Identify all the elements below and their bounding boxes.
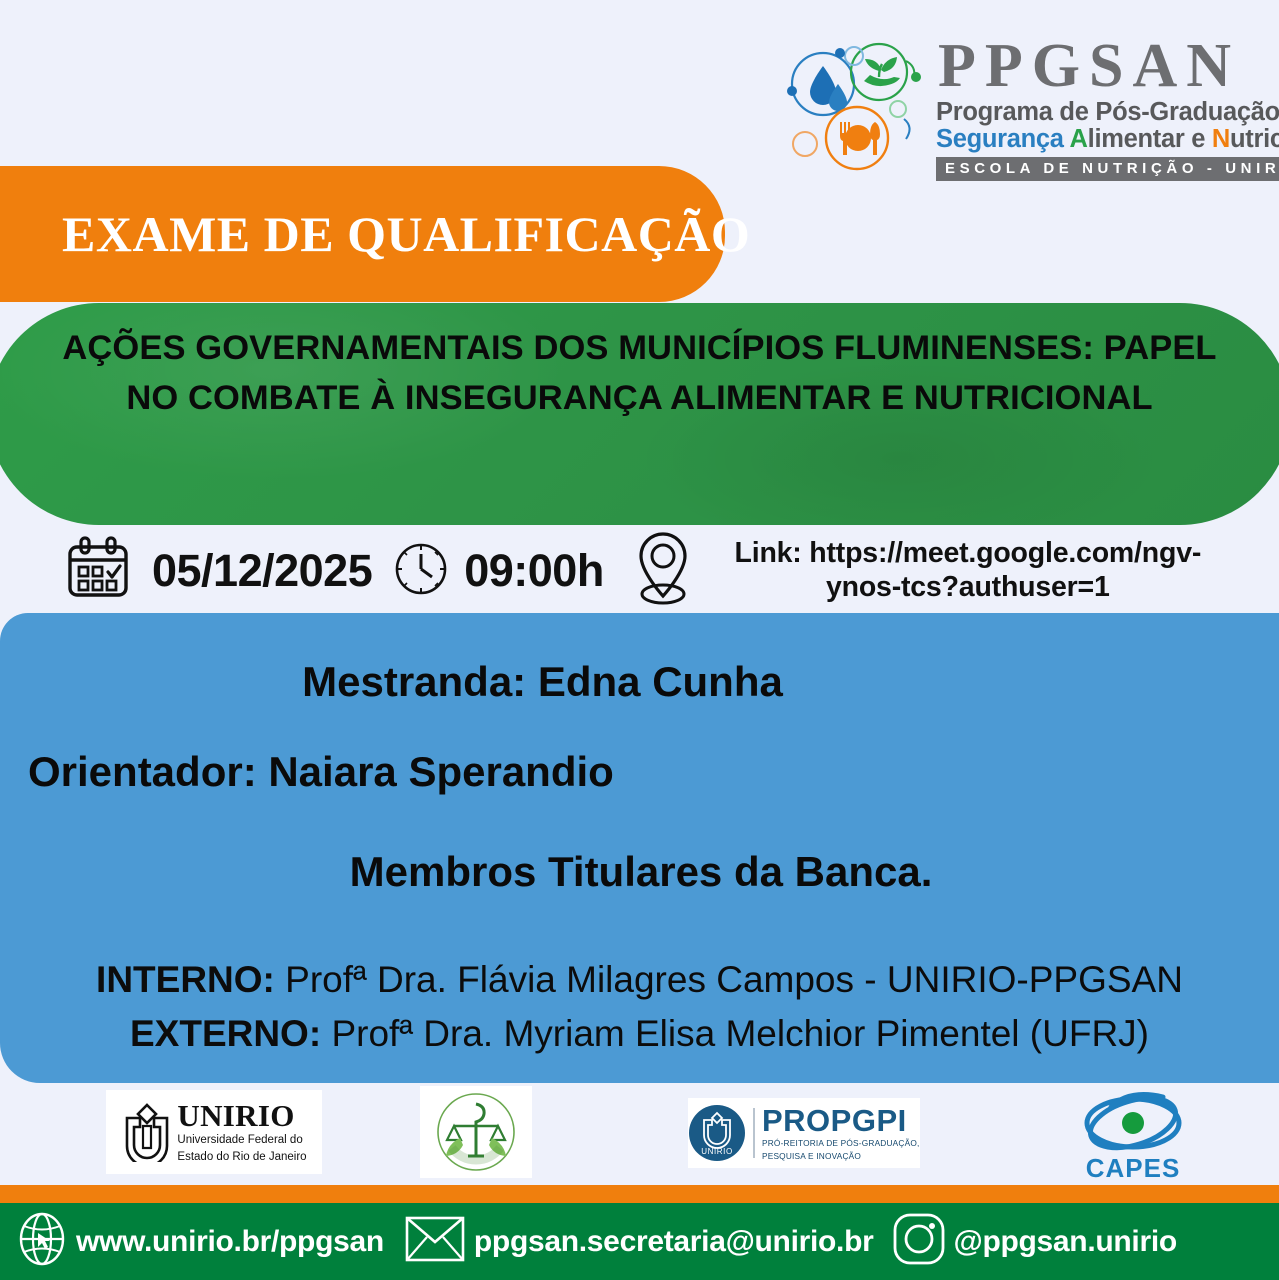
unirio-emblem-icon bbox=[121, 1102, 173, 1162]
escola-nutricao-seal-icon bbox=[430, 1086, 522, 1178]
leaf-left-icon bbox=[865, 59, 880, 71]
utricional-word: utricional bbox=[1230, 125, 1279, 153]
deco-circle-2-icon bbox=[793, 132, 817, 156]
instagram-handle[interactable]: @ppgsan.unirio bbox=[954, 1225, 1177, 1259]
map-pin-icon bbox=[630, 528, 696, 615]
ppgsan-subtitle-line2: Segurança Alimentar e Nutricional bbox=[936, 126, 1279, 154]
limentar-word: limentar e bbox=[1088, 125, 1212, 153]
unirio-sub2: Estado do Rio de Janeiro bbox=[177, 1150, 306, 1164]
propgpi-emblem-icon: UNIRIO bbox=[688, 1104, 746, 1162]
committee-member-row: INTERNO: Profª Dra. Flávia Milagres Camp… bbox=[0, 953, 1279, 1007]
committee-members: INTERNO: Profª Dra. Flávia Milagres Camp… bbox=[0, 953, 1279, 1062]
unirio-logo: UNIRIO Universidade Federal do Estado do… bbox=[106, 1090, 322, 1174]
escola-nutricao-logo bbox=[420, 1086, 532, 1178]
ppgsan-logo-mark bbox=[778, 39, 928, 179]
contact-footer: www.unirio.br/ppgsan ppgsan.secretaria@u… bbox=[0, 1203, 1279, 1280]
propgpi-badge-label: UNIRIO bbox=[702, 1147, 734, 1156]
ppgsan-school-bar: ESCOLA DE NUTRIÇÃO - UNIRIO bbox=[936, 157, 1279, 181]
propgpi-sub2: PESQUISA E INOVAÇÃO bbox=[762, 1151, 920, 1162]
student-name: Mestranda: Edna Cunha bbox=[0, 658, 1085, 706]
knife-icon bbox=[870, 122, 880, 155]
seg-word: Segurança bbox=[936, 125, 1070, 153]
capes-name: CAPES bbox=[1086, 1153, 1181, 1184]
poster-root: PPGSAN Programa de Pós-Graduação em Segu… bbox=[0, 0, 1279, 1280]
footer-accent-strip bbox=[0, 1185, 1279, 1203]
event-date: 05/12/2025 bbox=[152, 545, 372, 597]
fork-icon bbox=[840, 122, 850, 155]
deco-dot-icon bbox=[835, 48, 845, 58]
hand-glyph bbox=[864, 75, 900, 86]
thesis-title: AÇÕES GOVERNAMENTAIS DOS MUNICÍPIOS FLUM… bbox=[25, 323, 1255, 423]
committee-member-row: EXTERNO: Profª Dra. Myriam Elisa Melchio… bbox=[0, 1007, 1279, 1061]
capes-logo: CAPES bbox=[1063, 1088, 1203, 1184]
dot-blue-icon bbox=[787, 86, 797, 96]
propgpi-logo-inner: UNIRIO PROPGPI PRÓ-REITORIA DE PÓS-GRADU… bbox=[688, 1104, 919, 1162]
instagram-icon bbox=[892, 1212, 946, 1271]
unirio-logo-inner: UNIRIO Universidade Federal do Estado do… bbox=[121, 1100, 306, 1163]
ppgsan-subtitle-line1: Programa de Pós-Graduação em bbox=[936, 99, 1279, 127]
deco-dot-2-icon bbox=[911, 72, 921, 82]
ppgsan-acronym: PPGSAN bbox=[938, 37, 1240, 97]
globe-icon bbox=[16, 1211, 68, 1272]
n-letter: N bbox=[1212, 125, 1230, 153]
committee-heading: Membros Titulares da Banca. bbox=[0, 848, 1279, 896]
event-date-group: 05/12/2025 bbox=[62, 534, 372, 609]
a-letter: A bbox=[1070, 125, 1088, 153]
website-group[interactable]: www.unirio.br/ppgsan bbox=[16, 1211, 384, 1272]
propgpi-name: PROPGPI bbox=[762, 1105, 920, 1136]
member-name: Profª Dra. Myriam Elisa Melchior Pimente… bbox=[321, 1013, 1149, 1054]
deco-arc-2-icon bbox=[904, 119, 910, 139]
email-group[interactable]: ppgsan.secretaria@unirio.br bbox=[404, 1214, 874, 1269]
instagram-group[interactable]: @ppgsan.unirio bbox=[892, 1212, 1177, 1271]
member-role: EXTERNO: bbox=[130, 1013, 321, 1054]
propgpi-logo: UNIRIO PROPGPI PRÓ-REITORIA DE PÓS-GRADU… bbox=[688, 1098, 920, 1168]
capes-logo-inner: CAPES bbox=[1067, 1089, 1199, 1184]
member-name: Profª Dra. Flávia Milagres Campos - UNIR… bbox=[275, 959, 1183, 1000]
exam-type-label: EXAME DE QUALIFICAÇÃO bbox=[62, 205, 750, 263]
deco-circle-3-icon bbox=[890, 101, 906, 117]
unirio-logo-text: UNIRIO Universidade Federal do Estado do… bbox=[177, 1100, 306, 1163]
event-info-row: 05/12/2025 09:00h bbox=[0, 525, 1279, 617]
ppgsan-mark-svg bbox=[778, 39, 928, 179]
meeting-link[interactable]: Link: https://meet.google.com/ngv-ynos-t… bbox=[708, 537, 1228, 604]
propgpi-divider bbox=[753, 1108, 755, 1158]
thesis-title-line1: AÇÕES GOVERNAMENTAIS DOS MUNICÍPIOS FLUM… bbox=[25, 323, 1255, 373]
thesis-title-blob: AÇÕES GOVERNAMENTAIS DOS MUNICÍPIOS FLUM… bbox=[0, 303, 1279, 525]
clock-icon bbox=[390, 538, 452, 605]
people-panel: Mestranda: Edna Cunha Orientador: Naiara… bbox=[0, 613, 1279, 1083]
envelope-icon bbox=[404, 1214, 466, 1269]
unirio-sub1: Universidade Federal do bbox=[177, 1133, 306, 1147]
leaf-right-icon bbox=[881, 57, 897, 72]
capes-atom-icon bbox=[1067, 1089, 1199, 1155]
member-role: INTERNO: bbox=[96, 959, 275, 1000]
propgpi-logo-text: PROPGPI PRÓ-REITORIA DE PÓS-GRADUAÇÃO, P… bbox=[762, 1105, 920, 1162]
deco-circle-icon bbox=[845, 47, 863, 65]
unirio-name: UNIRIO bbox=[177, 1100, 306, 1131]
event-time: 09:00h bbox=[464, 545, 604, 597]
calendar-icon bbox=[62, 534, 134, 609]
ppgsan-logo-text: PPGSAN Programa de Pós-Graduação em Segu… bbox=[936, 37, 1279, 181]
email-address[interactable]: ppgsan.secretaria@unirio.br bbox=[474, 1225, 874, 1259]
exam-type-banner: EXAME DE QUALIFICAÇÃO bbox=[0, 166, 725, 302]
propgpi-sub1: PRÓ-REITORIA DE PÓS-GRADUAÇÃO, bbox=[762, 1138, 920, 1149]
stem-icon bbox=[879, 64, 882, 77]
thesis-title-line2: NO COMBATE À INSEGURANÇA ALIMENTAR E NUT… bbox=[25, 373, 1255, 423]
event-time-group: 09:00h bbox=[390, 538, 604, 605]
advisor-name: Orientador: Naiara Sperandio bbox=[28, 748, 614, 796]
event-link-group: Link: https://meet.google.com/ngv-ynos-t… bbox=[630, 528, 1228, 615]
ppgsan-logo: PPGSAN Programa de Pós-Graduação em Segu… bbox=[778, 34, 1258, 184]
website-url[interactable]: www.unirio.br/ppgsan bbox=[76, 1225, 384, 1259]
